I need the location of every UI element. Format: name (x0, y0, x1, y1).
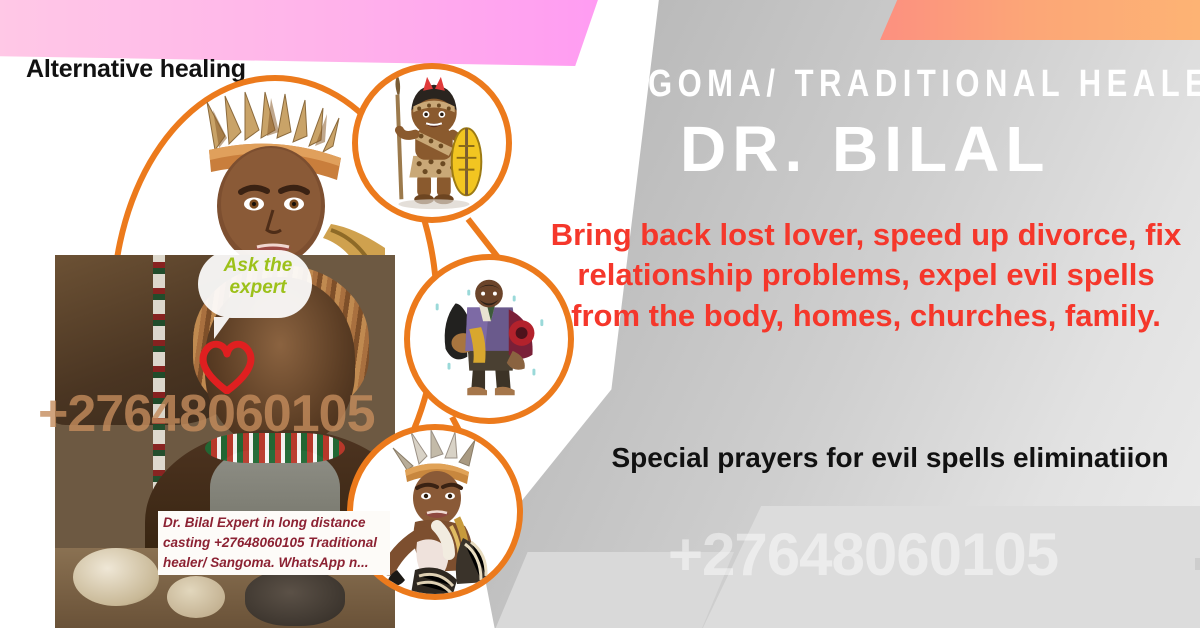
page-title: Alternative healing (26, 55, 246, 84)
orange-top-band (880, 0, 1200, 40)
healer-portrait-illustration (155, 88, 385, 273)
kicker-text: SANGOMA/ TRADITIONAL HEALER (566, 62, 1176, 106)
plus-decoration-icon (1195, 545, 1200, 583)
services-text: Bring back lost lover, speed up divorce,… (546, 215, 1186, 336)
photo-caption-text: Dr. Bilal Expert in long distance castin… (163, 513, 391, 573)
healer-name-title: DR. BILAL (680, 112, 1050, 186)
phone-watermark: +27648060105 (668, 520, 1058, 589)
circle-zulu-warrior-cartoon (352, 63, 512, 223)
poster-canvas: Alternative healing (0, 0, 1200, 628)
speech-bubble-text: Ask the expert (206, 255, 310, 300)
heart-icon (196, 338, 258, 394)
special-prayers-text: Special prayers for evil spells eliminat… (600, 440, 1180, 476)
